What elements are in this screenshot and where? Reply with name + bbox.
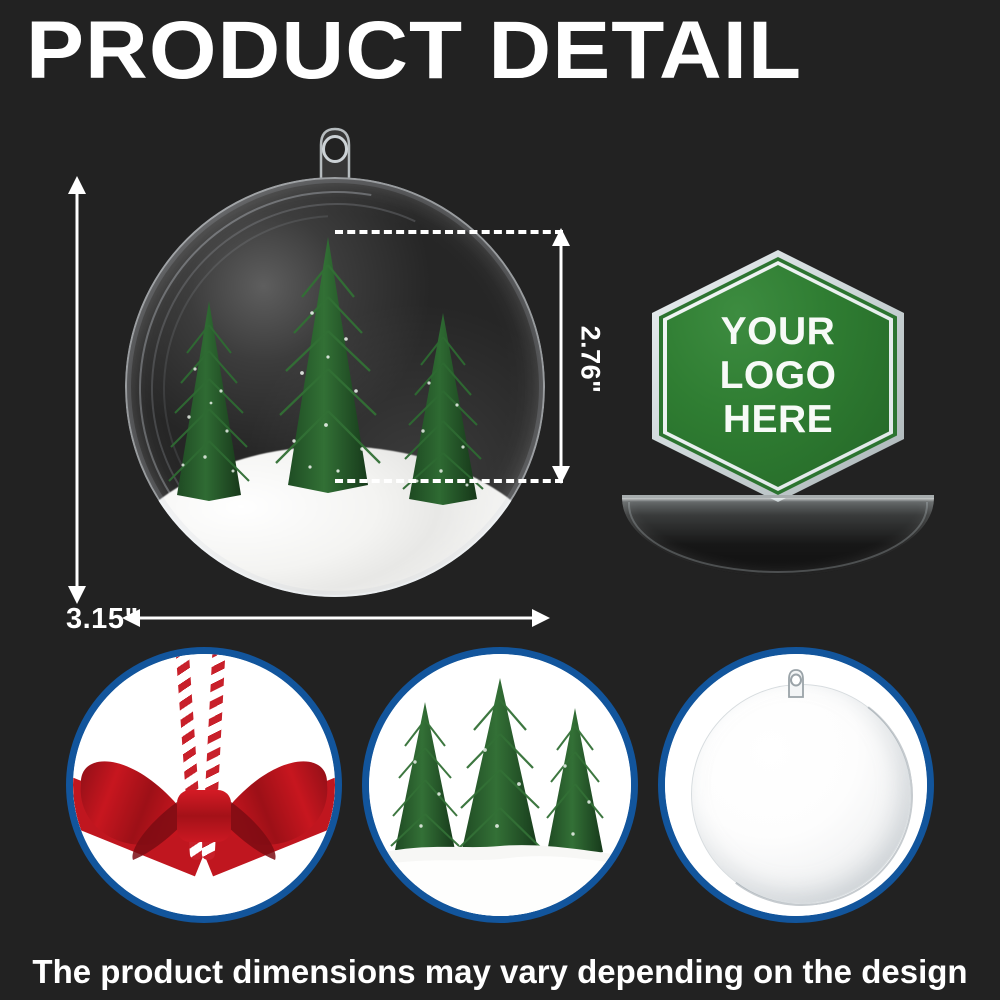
- sphere-seam-line: [677, 670, 927, 916]
- product-detail-page: PRODUCT DETAIL: [0, 0, 1000, 1000]
- thumbnail-pine-trees[interactable]: [362, 647, 638, 923]
- thumbnail-red-bow[interactable]: [66, 647, 342, 923]
- snow-bed: [125, 446, 545, 597]
- dimension-guide-top: [335, 230, 563, 234]
- glass-bowl-base: [622, 495, 934, 576]
- hang-loop-icon: [781, 668, 811, 698]
- hero-ornament-ball: [120, 125, 550, 595]
- dimension-guide-bottom: [335, 479, 563, 483]
- height-dimension-label: 2.76": [575, 326, 606, 394]
- glass-sphere: [125, 177, 545, 597]
- double-arrow-horizontal-icon: [122, 608, 550, 628]
- pine-trees-image: [369, 654, 631, 916]
- glass-highlight-arc: [125, 177, 545, 597]
- width-dimension-label: 3.15": [66, 603, 139, 636]
- footer-note: The product dimensions may vary dependin…: [0, 952, 1000, 992]
- thumbnail-row: [0, 645, 1000, 927]
- logo-placeholder-text: YOUR LOGO HERE: [652, 250, 904, 502]
- page-title: PRODUCT DETAIL: [26, 8, 1000, 94]
- clear-ball-image: [665, 654, 927, 916]
- double-arrow-vertical-icon: [551, 228, 571, 484]
- pine-tree: [155, 299, 263, 505]
- logo-line-1: YOUR: [721, 311, 836, 353]
- logo-line-2: LOGO: [720, 355, 837, 397]
- glass-highlight-arc: [125, 177, 545, 597]
- logo-line-3: HERE: [723, 399, 833, 441]
- glass-highlight-arc: [125, 177, 545, 597]
- red-bow-image: [73, 654, 335, 916]
- logo-placeholder-badge: YOUR LOGO HERE: [652, 250, 904, 502]
- pine-tree: [260, 235, 396, 497]
- double-arrow-vertical-icon: [67, 176, 87, 604]
- thumbnail-clear-ball[interactable]: [658, 647, 934, 923]
